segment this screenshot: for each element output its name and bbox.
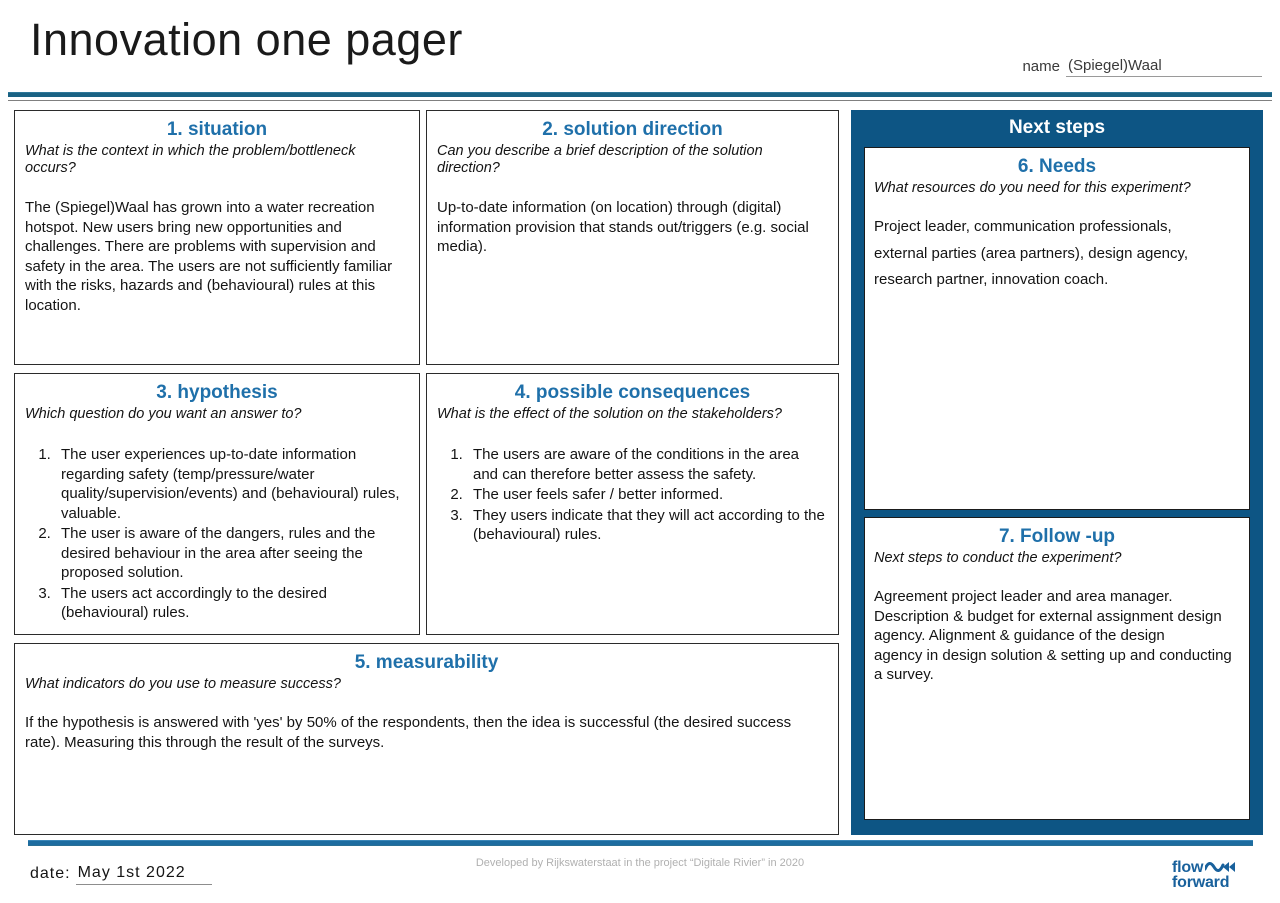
card-title: 5. measurability (25, 651, 828, 675)
card-body: The (Spiegel)Waal has grown into a water… (25, 198, 409, 315)
card-title: 7. Follow -up (874, 525, 1240, 549)
card-list: The users are aware of the conditions in… (437, 445, 828, 545)
page-header: Innovation one pager name (Spiegel)Waal (0, 0, 1280, 88)
name-field-label: name (1022, 58, 1060, 77)
list-item: The user experiences up-to-date informat… (55, 445, 409, 523)
card-prompt: What is the effect of the solution on th… (437, 406, 828, 424)
card-title: 6. Needs (874, 155, 1240, 179)
card-situation[interactable]: 1. situation What is the context in whic… (14, 110, 420, 365)
footer-divider (28, 840, 1253, 846)
card-body: Project leader, communication profession… (874, 217, 1240, 290)
card-follow-up[interactable]: 7. Follow -up Next steps to conduct the … (864, 517, 1250, 820)
header-divider-thin (8, 100, 1272, 101)
name-field[interactable]: name (Spiegel)Waal (1022, 57, 1262, 77)
card-prompt: Next steps to conduct the experiment? (874, 550, 1240, 568)
card-measurability[interactable]: 5. measurability What indicators do you … (14, 643, 839, 835)
card-body: Agreement project leader and area manage… (874, 587, 1240, 685)
date-field-label: date: (30, 865, 71, 885)
next-steps-panel: Next steps 6. Needs What resources do yo… (851, 110, 1263, 835)
card-prompt: Which question do you want an answer to? (25, 406, 409, 424)
page-footer: date: May 1st 2022 Developed by Rijkswat… (0, 848, 1280, 903)
list-item: The users are aware of the conditions in… (467, 445, 828, 484)
list-item: The user is aware of the dangers, rules … (55, 524, 409, 583)
header-divider (8, 92, 1272, 101)
card-prompt: What resources do you need for this expe… (874, 180, 1240, 198)
card-title: 4. possible consequences (437, 381, 828, 405)
next-steps-title: Next steps (851, 110, 1263, 140)
logo-row-flow: flow (1172, 860, 1264, 875)
page-title: Innovation one pager (30, 14, 463, 66)
wave-arrow-icon (1205, 861, 1235, 874)
card-list: The user experiences up-to-date informat… (25, 445, 409, 623)
card-possible-consequences[interactable]: 4. possible consequences What is the eff… (426, 373, 839, 635)
credit-text: Developed by Rijkswaterstaat in the proj… (440, 856, 840, 871)
card-prompt: Can you describe a brief description of … (437, 143, 828, 178)
card-hypothesis[interactable]: 3. hypothesis Which question do you want… (14, 373, 420, 635)
card-prompt: What indicators do you use to measure su… (25, 676, 828, 694)
list-item: They users indicate that they will act a… (467, 506, 828, 545)
name-field-value[interactable]: (Spiegel)Waal (1066, 57, 1262, 77)
logo-text-line1: flow (1172, 860, 1203, 875)
card-title: 3. hypothesis (25, 381, 409, 405)
card-body: Up-to-date information (on location) thr… (437, 198, 828, 257)
card-title: 2. solution direction (437, 118, 828, 142)
date-field[interactable]: date: May 1st 2022 (30, 864, 212, 885)
flow-forward-logo: flow forward (1172, 860, 1264, 900)
list-item: The users act accordingly to the desired… (55, 584, 409, 623)
card-solution-direction[interactable]: 2. solution direction Can you describe a… (426, 110, 839, 365)
header-divider-thick (8, 92, 1272, 97)
card-body: If the hypothesis is answered with 'yes'… (25, 713, 828, 752)
needs-line: research partner, innovation coach. (874, 270, 1240, 290)
needs-line: external parties (area partners), design… (874, 244, 1240, 264)
card-title: 1. situation (25, 118, 409, 142)
needs-line: Project leader, communication profession… (874, 217, 1240, 237)
canvas-left-grid: 1. situation What is the context in whic… (14, 110, 839, 835)
list-item: The user feels safer / better informed. (467, 485, 828, 505)
logo-text-line2: forward (1172, 875, 1264, 890)
card-needs[interactable]: 6. Needs What resources do you need for … (864, 147, 1250, 510)
date-field-value[interactable]: May 1st 2022 (76, 864, 212, 885)
card-prompt: What is the context in which the problem… (25, 143, 409, 178)
